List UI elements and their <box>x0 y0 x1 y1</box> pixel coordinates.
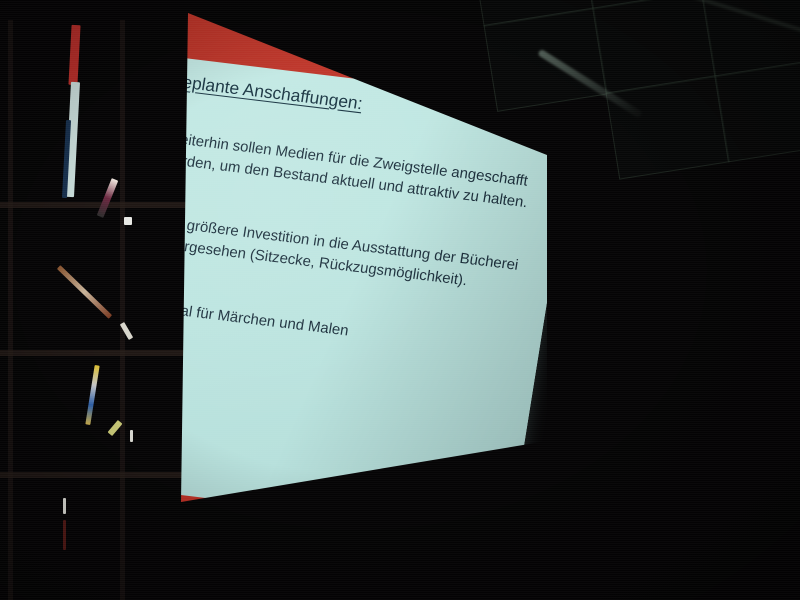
slide-title: Mitgliederversammlung des Fördervereins … <box>166 0 507 51</box>
slide-title-line1: Mitgliederversammlung des <box>169 0 506 32</box>
list-item: • Eine größere Investition in die Aussta… <box>136 211 538 301</box>
book-spine <box>85 365 99 425</box>
book-spine <box>130 430 133 442</box>
book-spine <box>68 25 80 85</box>
slide-heading: Geplante Anschaffungen: <box>168 71 364 115</box>
bullet-text: Material für Märchen und Malen <box>138 296 524 363</box>
dark-room-scene: Mitgliederversammlung des Fördervereins … <box>0 0 800 600</box>
list-item: • Weiterhin sollen Medien für die Zweigs… <box>149 126 551 216</box>
bookshelf <box>0 20 190 600</box>
book-spine <box>57 265 112 319</box>
book-spine <box>124 217 132 225</box>
list-item: • Material für Märchen und Malen <box>125 295 524 364</box>
book-spine <box>63 498 66 514</box>
slide-title-line2: Fördervereins der Schlößlesfeldbibliothe… <box>166 0 503 51</box>
book-spine <box>63 520 66 550</box>
bullet-text: Eine größere Investition in die Ausstatt… <box>148 212 537 300</box>
book-spine <box>97 178 118 218</box>
bullet-text: Weiterhin sollen Medien für die Zweigste… <box>161 128 550 216</box>
